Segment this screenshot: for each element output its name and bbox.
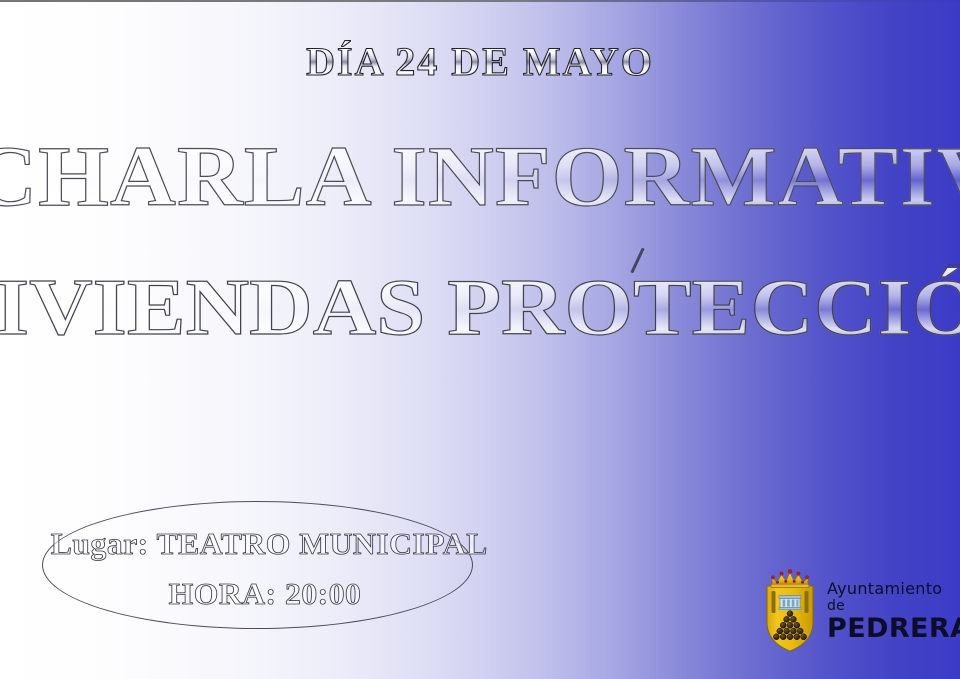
- logo-line-pedrera: PEDRERA: [827, 615, 960, 642]
- venue-time-line: HORA: 20:00: [51, 578, 479, 609]
- shield-pillar-right: [805, 591, 809, 613]
- shield-gate: [779, 596, 801, 610]
- shield-svg: [760, 564, 820, 654]
- town-hall-logo: Ayuntamiento de PEDRERA: [760, 563, 950, 655]
- poster-canvas: DÍA 24 DE MAYO CHARLA INFORMATIVA VIVIEN…: [0, 0, 960, 679]
- shield-pillar-left: [772, 591, 776, 613]
- headline-secondary: VIVIENDAS PROTECCIÓN OFICIAL: [0, 268, 960, 348]
- headline-primary: CHARLA INFORMATIVA: [0, 133, 960, 219]
- coat-of-arms-icon: [760, 564, 820, 654]
- top-border-rule: [0, 0, 960, 2]
- headline-secondary-wrapper: VIVIENDAS PROTECCIÓN OFICIAL: [0, 268, 960, 388]
- venue-place-line: Lugar: TEATRO MUNICIPAL: [51, 528, 479, 559]
- logo-text-block: Ayuntamiento de PEDRERA: [827, 577, 960, 642]
- logo-line-ayuntamiento: Ayuntamiento: [827, 581, 960, 597]
- crown-icon: [771, 569, 809, 587]
- event-date-heading: DÍA 24 DE MAYO: [0, 42, 960, 82]
- logo-line-de: de: [827, 599, 960, 613]
